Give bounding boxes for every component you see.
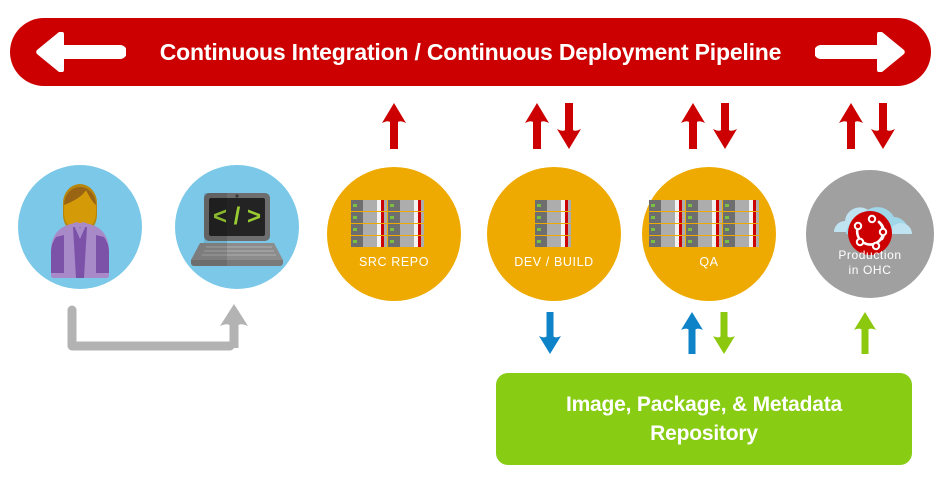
server-rack-icon bbox=[535, 200, 571, 247]
node-label-qa: QA bbox=[642, 255, 776, 270]
pipeline-title: Continuous Integration / Continuous Depl… bbox=[130, 18, 811, 86]
cloud-openshift-icon bbox=[806, 170, 934, 298]
bottom-arrow-up-qa bbox=[680, 312, 704, 354]
bottom-arrow-down-dev-build bbox=[538, 312, 562, 354]
person-icon bbox=[18, 165, 142, 289]
top-arrow-up-dev-build bbox=[524, 103, 550, 149]
cicd-pipeline-diagram: Continuous Integration / Continuous Depl… bbox=[0, 0, 941, 500]
node-qa[interactable]: QA bbox=[642, 167, 776, 301]
connector-person-to-laptop bbox=[60, 300, 260, 360]
laptop-code-icon: < / > bbox=[175, 165, 299, 289]
node-laptop[interactable]: < / > bbox=[175, 165, 299, 289]
node-person[interactable] bbox=[18, 165, 142, 289]
bottom-arrow-up-production bbox=[853, 312, 877, 354]
arrow-left-icon bbox=[34, 32, 126, 72]
node-src-repo[interactable]: SRC REPO bbox=[327, 167, 461, 301]
repository-label: Image, Package, & Metadata Repository bbox=[566, 390, 842, 448]
server-rack-icon bbox=[649, 200, 759, 247]
top-arrow-up-src-repo bbox=[381, 103, 407, 149]
node-dev-build[interactable]: DEV / BUILD bbox=[487, 167, 621, 301]
bottom-arrow-down-qa bbox=[712, 312, 736, 354]
node-label-dev-build: DEV / BUILD bbox=[487, 255, 621, 270]
node-label-production: Production in OHC bbox=[806, 248, 934, 278]
server-rack-icon bbox=[351, 200, 424, 247]
node-label-src-repo: SRC REPO bbox=[327, 255, 461, 270]
top-arrow-up-production bbox=[838, 103, 864, 149]
repository-box[interactable]: Image, Package, & Metadata Repository bbox=[496, 373, 912, 465]
arrow-right-icon bbox=[815, 32, 907, 72]
top-arrow-down-dev-build bbox=[556, 103, 582, 149]
top-arrow-down-production bbox=[870, 103, 896, 149]
top-arrow-down-qa bbox=[712, 103, 738, 149]
node-production[interactable]: Production in OHC bbox=[806, 170, 934, 298]
pipeline-banner: Continuous Integration / Continuous Depl… bbox=[10, 18, 931, 86]
top-arrow-up-qa bbox=[680, 103, 706, 149]
